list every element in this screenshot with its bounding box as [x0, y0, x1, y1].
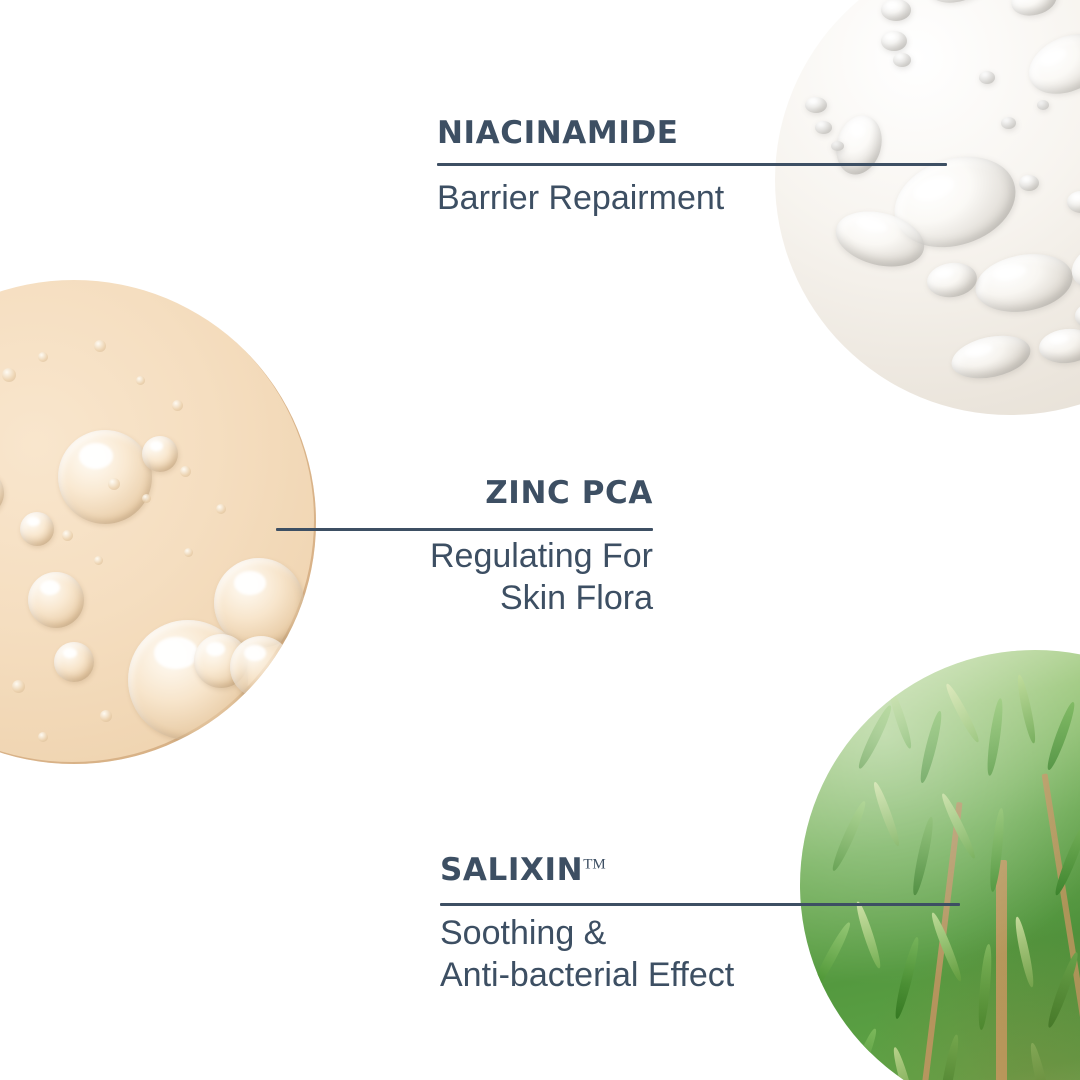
leaf	[917, 710, 945, 784]
leaf	[1074, 1033, 1080, 1080]
leaf	[1044, 700, 1078, 771]
micro-bubble	[62, 530, 73, 541]
bubble	[142, 436, 178, 472]
micro-bubble	[136, 376, 145, 385]
callout-title-salixin: SALIXINTM	[440, 855, 734, 886]
leaf	[829, 799, 869, 872]
droplet	[1037, 100, 1049, 110]
leaf	[976, 944, 993, 1031]
trademark-symbol: TM	[583, 857, 606, 873]
leaf	[1030, 784, 1039, 854]
micro-bubble	[184, 548, 193, 557]
micro-bubble	[180, 466, 191, 477]
callout-salixin: SALIXINTM Soothing & Anti-bacterial Effe…	[440, 855, 734, 996]
leaf	[910, 816, 936, 896]
leaf	[808, 920, 853, 994]
infographic-canvas: NIACINAMIDE Barrier Repairment ZINC PCA …	[0, 0, 1080, 1080]
callout-rule-niacinamide	[437, 163, 947, 166]
bubble	[54, 642, 94, 682]
callout-title-zinc-pca: ZINC PCA	[276, 478, 653, 509]
leaf	[853, 900, 883, 969]
serum-droplets-circle	[775, 0, 1080, 415]
droplet	[925, 260, 979, 301]
bubble	[0, 470, 4, 516]
leaf	[892, 936, 922, 1020]
micro-bubble	[100, 710, 112, 722]
micro-bubble	[216, 504, 226, 514]
leaf	[936, 1034, 961, 1080]
droplet	[893, 53, 911, 67]
droplet	[881, 0, 911, 21]
tea-tree-plant-circle	[800, 650, 1080, 1080]
micro-bubble	[2, 368, 16, 382]
micro-bubble	[94, 556, 103, 565]
bubble	[58, 430, 152, 524]
micro-bubble	[94, 340, 106, 352]
callout-title-niacinamide: NIACINAMIDE	[437, 118, 724, 149]
callout-niacinamide: NIACINAMIDE Barrier Repairment	[437, 118, 724, 219]
callout-rule-salixin	[440, 903, 960, 906]
droplet	[920, 0, 999, 11]
droplet	[1008, 0, 1060, 20]
beige-oil-bubbles-circle	[0, 280, 316, 764]
leaf	[985, 698, 1006, 777]
droplet	[1037, 326, 1080, 366]
callout-description-zinc-pca: Regulating For Skin Flora	[276, 535, 653, 619]
callout-description-salixin: Soothing & Anti-bacterial Effect	[440, 912, 734, 996]
leaf	[1015, 674, 1038, 744]
leaf	[842, 1027, 880, 1080]
droplet	[1075, 303, 1080, 329]
bubble	[20, 512, 54, 546]
callout-zinc-pca: ZINC PCA Regulating For Skin Flora	[276, 478, 653, 619]
micro-bubble	[38, 352, 48, 362]
leaf	[1045, 951, 1080, 1030]
droplet	[831, 141, 844, 151]
micro-bubble	[142, 494, 151, 503]
plant-stem	[1042, 773, 1080, 1080]
leaf	[891, 1046, 919, 1080]
bubble	[230, 636, 292, 698]
callout-title-salixin-text: SALIXIN	[440, 852, 583, 888]
leaf	[887, 688, 915, 750]
plant-stem	[996, 860, 1007, 1080]
droplet	[1067, 191, 1080, 213]
leaf	[943, 682, 982, 744]
droplet	[1020, 23, 1080, 106]
micro-bubble	[38, 732, 48, 742]
leaf	[871, 781, 903, 848]
callout-rule-zinc-pca	[276, 528, 653, 531]
leaf	[855, 703, 895, 770]
droplet	[979, 71, 995, 84]
droplet	[1001, 117, 1016, 129]
droplet	[805, 97, 827, 113]
leaf	[1027, 1042, 1054, 1080]
droplet	[948, 329, 1035, 385]
droplet	[971, 247, 1077, 319]
droplet	[1019, 175, 1039, 191]
bubble	[28, 572, 84, 628]
callout-description-niacinamide: Barrier Repairment	[437, 177, 724, 219]
droplet	[815, 121, 832, 134]
micro-bubble	[12, 680, 25, 693]
micro-bubble	[172, 400, 183, 411]
droplet	[881, 31, 907, 51]
micro-bubble	[108, 478, 120, 490]
leaf	[1013, 916, 1037, 988]
